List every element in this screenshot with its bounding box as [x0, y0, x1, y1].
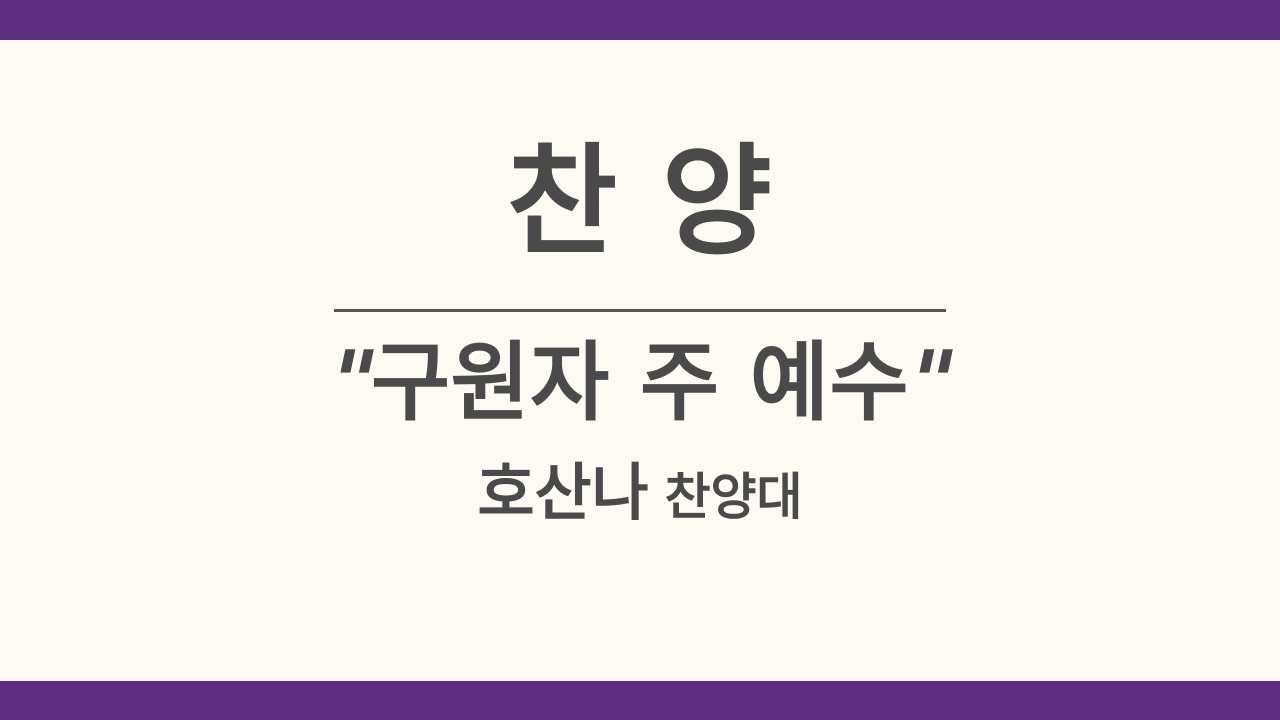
top-accent-bar: [0, 0, 1280, 40]
worship-slide: 찬 양 "구원자 주 예수" 호산나 찬양대: [0, 0, 1280, 720]
performer-line: 호산나 찬양대: [477, 462, 802, 524]
song-title-text: 구원자 주 예수: [371, 333, 909, 433]
choir-name: 호산나: [477, 462, 648, 524]
choir-suffix: 찬양대: [665, 472, 803, 522]
bottom-accent-bar: [0, 681, 1280, 720]
page-title: 찬 양: [507, 143, 773, 263]
title-divider: [334, 309, 946, 312]
slide-content: 찬 양 "구원자 주 예수" 호산나 찬양대: [0, 40, 1280, 681]
song-title: "구원자 주 예수": [330, 340, 951, 426]
